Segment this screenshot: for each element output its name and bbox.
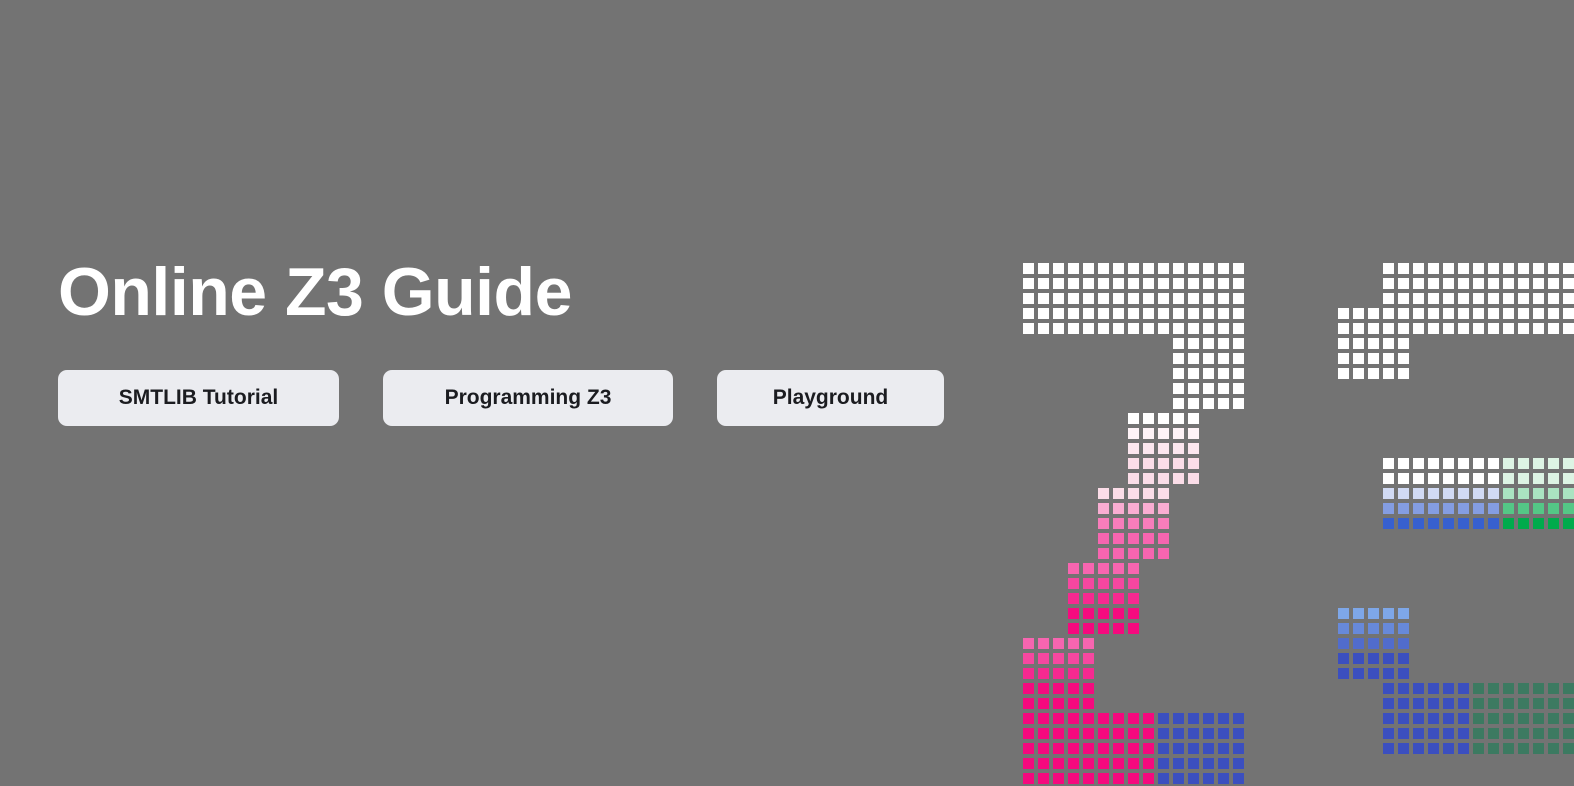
logo-pixel [1081, 666, 1096, 681]
logo-pixel [1411, 456, 1426, 471]
logo-pixel [1546, 276, 1561, 291]
logo-pixel [1201, 261, 1216, 276]
logo-pixel [1471, 321, 1486, 336]
logo-pixel [1411, 726, 1426, 741]
logo-pixel [1186, 771, 1201, 786]
logo-pixel [1516, 696, 1531, 711]
logo-pixel [1456, 726, 1471, 741]
logo-pixel [1036, 651, 1051, 666]
logo-pixel [1186, 336, 1201, 351]
logo-pixel [1156, 546, 1171, 561]
logo-pixel [1366, 351, 1381, 366]
logo-pixel [1531, 711, 1546, 726]
logo-pixel [1051, 321, 1066, 336]
logo-pixel [1381, 306, 1396, 321]
logo-pixel [1096, 711, 1111, 726]
logo-pixel [1411, 321, 1426, 336]
logo-pixel [1111, 576, 1126, 591]
logo-pixel [1111, 621, 1126, 636]
logo-pixel [1216, 381, 1231, 396]
logo-pixel [1201, 366, 1216, 381]
logo-pixel [1486, 261, 1501, 276]
logo-pixel [1141, 261, 1156, 276]
logo-pixel [1471, 501, 1486, 516]
logo-pixel [1231, 321, 1246, 336]
logo-pixel [1096, 306, 1111, 321]
logo-pixel [1216, 291, 1231, 306]
logo-pixel [1411, 711, 1426, 726]
logo-pixel [1126, 711, 1141, 726]
logo-pixel [1561, 456, 1574, 471]
smtlib-tutorial-button[interactable]: SMTLIB Tutorial [58, 370, 339, 426]
logo-pixel [1021, 696, 1036, 711]
logo-pixel [1366, 336, 1381, 351]
logo-pixel [1096, 741, 1111, 756]
logo-pixel [1546, 711, 1561, 726]
logo-pixel [1501, 261, 1516, 276]
logo-pixel [1336, 321, 1351, 336]
logo-pixel [1141, 276, 1156, 291]
logo-pixel [1186, 396, 1201, 411]
logo-pixel [1126, 456, 1141, 471]
logo-pixel [1171, 726, 1186, 741]
logo-pixel [1216, 276, 1231, 291]
logo-pixel [1231, 756, 1246, 771]
logo-pixel [1036, 261, 1051, 276]
logo-pixel [1201, 306, 1216, 321]
logo-pixel [1171, 741, 1186, 756]
logo-pixel [1126, 261, 1141, 276]
logo-pixel [1051, 741, 1066, 756]
logo-pixel [1411, 741, 1426, 756]
logo-pixel [1186, 471, 1201, 486]
logo-pixel [1381, 261, 1396, 276]
logo-pixel [1501, 696, 1516, 711]
logo-pixel [1351, 621, 1366, 636]
logo-pixel [1426, 276, 1441, 291]
logo-pixel [1561, 696, 1574, 711]
logo-pixel [1486, 711, 1501, 726]
logo-pixel [1456, 501, 1471, 516]
logo-pixel [1201, 381, 1216, 396]
page-title: Online Z3 Guide [58, 258, 978, 326]
logo-pixel [1381, 366, 1396, 381]
logo-pixel [1456, 741, 1471, 756]
logo-pixel [1396, 741, 1411, 756]
logo-pixel [1486, 471, 1501, 486]
logo-pixel [1081, 291, 1096, 306]
logo-pixel [1066, 696, 1081, 711]
logo-pixel [1141, 516, 1156, 531]
logo-pixel [1516, 321, 1531, 336]
logo-pixel [1216, 351, 1231, 366]
logo-pixel [1546, 306, 1561, 321]
logo-pixel [1126, 441, 1141, 456]
logo-pixel [1516, 501, 1531, 516]
logo-pixel [1216, 306, 1231, 321]
logo-pixel [1171, 366, 1186, 381]
logo-pixel [1456, 276, 1471, 291]
logo-pixel [1111, 486, 1126, 501]
logo-pixel [1126, 411, 1141, 426]
logo-pixel [1381, 636, 1396, 651]
logo-pixel [1171, 351, 1186, 366]
logo-pixel [1171, 771, 1186, 786]
logo-pixel [1561, 306, 1574, 321]
logo-pixel [1486, 456, 1501, 471]
logo-pixel [1351, 606, 1366, 621]
logo-pixel [1531, 501, 1546, 516]
logo-pixel [1111, 306, 1126, 321]
logo-pixel [1231, 726, 1246, 741]
logo-pixel [1216, 771, 1231, 786]
logo-pixel [1021, 261, 1036, 276]
logo-pixel [1141, 756, 1156, 771]
logo-pixel [1426, 516, 1441, 531]
logo-pixel [1141, 426, 1156, 441]
logo-pixel [1201, 741, 1216, 756]
playground-button[interactable]: Playground [717, 370, 944, 426]
logo-pixel [1426, 306, 1441, 321]
programming-z3-button[interactable]: Programming Z3 [383, 370, 673, 426]
logo-pixel [1066, 321, 1081, 336]
logo-pixel [1111, 516, 1126, 531]
logo-pixel [1141, 411, 1156, 426]
logo-pixel [1081, 606, 1096, 621]
hero-button-row: SMTLIB Tutorial Programming Z3 Playgroun… [58, 370, 978, 426]
logo-pixel [1396, 471, 1411, 486]
logo-pixel [1111, 546, 1126, 561]
logo-pixel [1021, 756, 1036, 771]
logo-pixel [1081, 741, 1096, 756]
logo-pixel [1456, 681, 1471, 696]
logo-pixel [1516, 711, 1531, 726]
logo-pixel [1186, 426, 1201, 441]
logo-pixel [1531, 696, 1546, 711]
logo-pixel [1231, 276, 1246, 291]
logo-pixel [1426, 456, 1441, 471]
logo-pixel [1486, 741, 1501, 756]
logo-pixel [1396, 291, 1411, 306]
logo-pixel [1156, 291, 1171, 306]
logo-pixel [1126, 321, 1141, 336]
logo-pixel [1531, 456, 1546, 471]
logo-pixel [1156, 306, 1171, 321]
logo-pixel [1471, 291, 1486, 306]
logo-pixel [1021, 711, 1036, 726]
logo-pixel [1111, 756, 1126, 771]
logo-pixel [1096, 321, 1111, 336]
logo-pixel [1126, 741, 1141, 756]
logo-pixel [1141, 486, 1156, 501]
logo-pixel [1081, 696, 1096, 711]
logo-pixel [1381, 666, 1396, 681]
logo-pixel [1171, 711, 1186, 726]
logo-pixel [1111, 711, 1126, 726]
logo-pixel [1186, 351, 1201, 366]
logo-pixel [1546, 696, 1561, 711]
logo-pixel [1126, 426, 1141, 441]
logo-pixel [1471, 726, 1486, 741]
logo-pixel [1366, 321, 1381, 336]
logo-pixel [1096, 591, 1111, 606]
logo-pixel [1081, 756, 1096, 771]
logo-pixel [1396, 606, 1411, 621]
hero-section: Online Z3 Guide SMTLIB Tutorial Programm… [0, 0, 1574, 742]
logo-pixel [1021, 741, 1036, 756]
logo-pixel [1081, 636, 1096, 651]
logo-pixel [1561, 741, 1574, 756]
logo-pixel [1561, 516, 1574, 531]
logo-pixel [1141, 321, 1156, 336]
logo-pixel [1516, 681, 1531, 696]
logo-pixel [1036, 681, 1051, 696]
logo-pixel [1156, 741, 1171, 756]
logo-pixel [1471, 681, 1486, 696]
logo-pixel [1126, 771, 1141, 786]
logo-pixel [1216, 336, 1231, 351]
logo-pixel [1066, 276, 1081, 291]
logo-pixel [1066, 771, 1081, 786]
logo-pixel [1201, 321, 1216, 336]
logo-pixel [1216, 396, 1231, 411]
logo-pixel [1171, 276, 1186, 291]
logo-pixel [1516, 471, 1531, 486]
logo-pixel [1081, 276, 1096, 291]
logo-pixel [1411, 501, 1426, 516]
logo-pixel [1021, 636, 1036, 651]
logo-pixel [1531, 681, 1546, 696]
logo-pixel [1336, 336, 1351, 351]
logo-pixel [1141, 291, 1156, 306]
logo-pixel [1096, 756, 1111, 771]
logo-pixel [1426, 486, 1441, 501]
logo-pixel [1081, 321, 1096, 336]
logo-pixel [1426, 696, 1441, 711]
logo-pixel [1066, 561, 1081, 576]
logo-pixel [1396, 351, 1411, 366]
logo-pixel [1561, 711, 1574, 726]
logo-pixel [1381, 651, 1396, 666]
logo-pixel [1096, 561, 1111, 576]
logo-pixel [1201, 771, 1216, 786]
logo-pixel [1126, 621, 1141, 636]
logo-pixel [1516, 486, 1531, 501]
logo-pixel [1216, 321, 1231, 336]
logo-pixel [1381, 606, 1396, 621]
logo-pixel [1351, 306, 1366, 321]
logo-pixel [1366, 621, 1381, 636]
logo-pixel [1141, 726, 1156, 741]
logo-pixel [1156, 456, 1171, 471]
logo-pixel [1021, 771, 1036, 786]
logo-pixel [1336, 651, 1351, 666]
logo-pixel [1126, 291, 1141, 306]
logo-pixel [1351, 321, 1366, 336]
logo-pixel [1066, 756, 1081, 771]
logo-pixel [1561, 471, 1574, 486]
logo-pixel [1441, 681, 1456, 696]
logo-pixel [1036, 306, 1051, 321]
logo-pixel [1216, 261, 1231, 276]
logo-pixel [1036, 291, 1051, 306]
logo-pixel [1141, 471, 1156, 486]
logo-pixel [1036, 756, 1051, 771]
logo-pixel [1336, 606, 1351, 621]
logo-pixel [1021, 651, 1036, 666]
logo-pixel [1111, 741, 1126, 756]
logo-pixel [1066, 651, 1081, 666]
logo-pixel [1141, 441, 1156, 456]
logo-pixel [1396, 456, 1411, 471]
logo-pixel [1141, 771, 1156, 786]
logo-pixel [1561, 291, 1574, 306]
logo-pixel [1021, 306, 1036, 321]
logo-pixel [1471, 486, 1486, 501]
logo-pixel [1396, 681, 1411, 696]
logo-pixel [1171, 396, 1186, 411]
logo-pixel [1231, 396, 1246, 411]
logo-pixel [1456, 261, 1471, 276]
logo-pixel [1021, 321, 1036, 336]
logo-pixel [1186, 741, 1201, 756]
logo-pixel [1096, 516, 1111, 531]
logo-pixel [1441, 741, 1456, 756]
logo-pixel [1141, 531, 1156, 546]
logo-pixel [1336, 621, 1351, 636]
logo-pixel [1141, 456, 1156, 471]
logo-pixel [1051, 756, 1066, 771]
logo-pixel [1081, 306, 1096, 321]
logo-pixel [1111, 276, 1126, 291]
logo-pixel [1051, 636, 1066, 651]
logo-pixel [1171, 456, 1186, 471]
logo-pixel [1336, 351, 1351, 366]
logo-pixel [1546, 681, 1561, 696]
logo-pixel [1561, 501, 1574, 516]
logo-pixel [1231, 771, 1246, 786]
logo-pixel [1081, 711, 1096, 726]
logo-pixel [1156, 516, 1171, 531]
logo-pixel [1051, 666, 1066, 681]
logo-pixel [1111, 561, 1126, 576]
logo-pixel [1501, 726, 1516, 741]
logo-pixel [1456, 321, 1471, 336]
logo-pixel [1186, 381, 1201, 396]
logo-pixel [1336, 636, 1351, 651]
logo-pixel [1126, 546, 1141, 561]
logo-pixel [1171, 426, 1186, 441]
logo-pixel [1126, 306, 1141, 321]
logo-pixel [1066, 741, 1081, 756]
logo-pixel [1051, 771, 1066, 786]
logo-pixel [1516, 516, 1531, 531]
logo-pixel [1381, 726, 1396, 741]
logo-pixel [1036, 636, 1051, 651]
logo-pixel [1411, 681, 1426, 696]
logo-pixel [1501, 306, 1516, 321]
logo-pixel [1426, 291, 1441, 306]
logo-pixel [1126, 591, 1141, 606]
logo-pixel [1186, 306, 1201, 321]
logo-pixel [1561, 726, 1574, 741]
logo-pixel [1126, 756, 1141, 771]
logo-pixel [1081, 621, 1096, 636]
logo-pixel [1201, 276, 1216, 291]
logo-pixel [1441, 276, 1456, 291]
logo-pixel [1231, 306, 1246, 321]
logo-pixel [1126, 471, 1141, 486]
logo-pixel [1456, 291, 1471, 306]
logo-pixel [1561, 276, 1574, 291]
logo-pixel [1441, 456, 1456, 471]
logo-pixel [1231, 291, 1246, 306]
logo-pixel [1111, 321, 1126, 336]
logo-pixel [1396, 636, 1411, 651]
logo-pixel [1126, 606, 1141, 621]
logo-pixel [1486, 306, 1501, 321]
logo-pixel [1441, 696, 1456, 711]
logo-pixel [1171, 321, 1186, 336]
logo-pixel [1381, 336, 1396, 351]
logo-pixel [1186, 261, 1201, 276]
logo-pixel [1066, 261, 1081, 276]
logo-pixel [1156, 711, 1171, 726]
logo-pixel [1561, 321, 1574, 336]
logo-pixel [1441, 501, 1456, 516]
logo-pixel [1336, 366, 1351, 381]
logo-pixel [1141, 306, 1156, 321]
logo-pixel [1126, 516, 1141, 531]
logo-pixel [1186, 711, 1201, 726]
logo-pixel [1156, 471, 1171, 486]
logo-pixel [1051, 711, 1066, 726]
logo-pixel [1501, 321, 1516, 336]
logo-pixel [1351, 336, 1366, 351]
logo-pixel [1231, 366, 1246, 381]
hero-content: Online Z3 Guide SMTLIB Tutorial Programm… [58, 258, 978, 426]
logo-pixel [1411, 306, 1426, 321]
logo-pixel [1426, 321, 1441, 336]
logo-pixel [1546, 471, 1561, 486]
logo-pixel [1381, 471, 1396, 486]
logo-pixel [1066, 291, 1081, 306]
logo-pixel [1456, 456, 1471, 471]
logo-pixel [1096, 576, 1111, 591]
logo-pixel [1351, 366, 1366, 381]
logo-pixel [1501, 471, 1516, 486]
logo-pixel [1081, 681, 1096, 696]
logo-pixel [1186, 456, 1201, 471]
logo-pixel [1081, 576, 1096, 591]
logo-pixel [1111, 501, 1126, 516]
logo-pixel [1036, 666, 1051, 681]
logo-pixel [1381, 711, 1396, 726]
logo-pixel [1381, 681, 1396, 696]
logo-pixel [1066, 306, 1081, 321]
logo-pixel [1396, 696, 1411, 711]
logo-pixel [1381, 321, 1396, 336]
logo-pixel [1081, 651, 1096, 666]
logo-pixel [1501, 516, 1516, 531]
logo-pixel [1156, 726, 1171, 741]
logo-pixel [1036, 321, 1051, 336]
logo-pixel [1036, 726, 1051, 741]
logo-pixel [1471, 276, 1486, 291]
logo-pixel [1411, 486, 1426, 501]
logo-pixel [1231, 711, 1246, 726]
logo-pixel [1036, 741, 1051, 756]
